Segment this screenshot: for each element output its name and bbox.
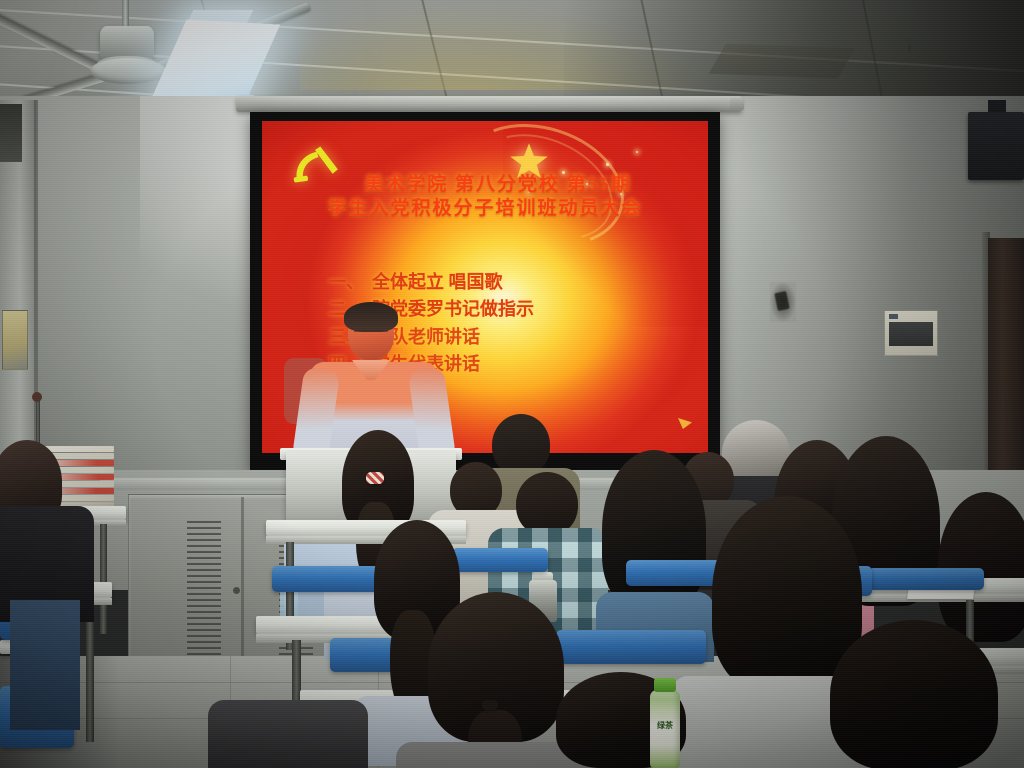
screen-roller-cap (730, 98, 744, 110)
green-tea-bottle: 绿茶 (648, 678, 682, 768)
student-jeans (10, 600, 80, 730)
speaker-hair (344, 302, 398, 332)
hair-tie-icon (482, 700, 498, 710)
cabinet-knob-icon[interactable] (233, 587, 240, 594)
student-bottom-left (208, 700, 368, 768)
agenda-number: 一、 (328, 272, 364, 292)
agenda-item-1: 一、全体起立 唱国歌 (328, 269, 694, 296)
fluorescent-light-panel-icon (152, 19, 280, 102)
wall-stain (770, 282, 796, 322)
wall-control-panel[interactable] (884, 310, 938, 356)
hair (830, 620, 998, 768)
torso (208, 700, 368, 768)
bottle-cap-icon (654, 678, 676, 692)
panel-led-icon (889, 314, 898, 319)
agenda-text: 全体起立 唱国歌 (372, 272, 503, 292)
microphone-head-icon (32, 392, 42, 402)
wall-dark-fixture (0, 104, 22, 162)
glasses-icon (354, 330, 388, 340)
panel-screen (889, 322, 933, 346)
slide-title-line1: 美术学院 第八分党校 第55期 (262, 173, 708, 197)
head (516, 472, 578, 536)
wall-speaker-icon (968, 112, 1024, 180)
slide-title-line2: 学生入党积极分子培训班动员大会 (262, 197, 708, 221)
screen-roller-housing (236, 96, 742, 112)
classroom-photo: 美术学院 第八分党校 第55期 学生入党积极分子培训班动员大会 一、全体起立 唱… (0, 0, 1024, 768)
bottle-label: 绿茶 (654, 722, 676, 730)
wall-poster-icon (2, 310, 28, 370)
slide-sparkle (606, 163, 609, 166)
student-front-right (824, 620, 1004, 768)
slide-sparkle (636, 151, 638, 153)
cabinet-vent-icon (187, 521, 221, 659)
hair-clip-icon (366, 472, 384, 484)
slide-title: 美术学院 第八分党校 第55期 学生入党积极分子培训班动员大会 (262, 173, 708, 222)
